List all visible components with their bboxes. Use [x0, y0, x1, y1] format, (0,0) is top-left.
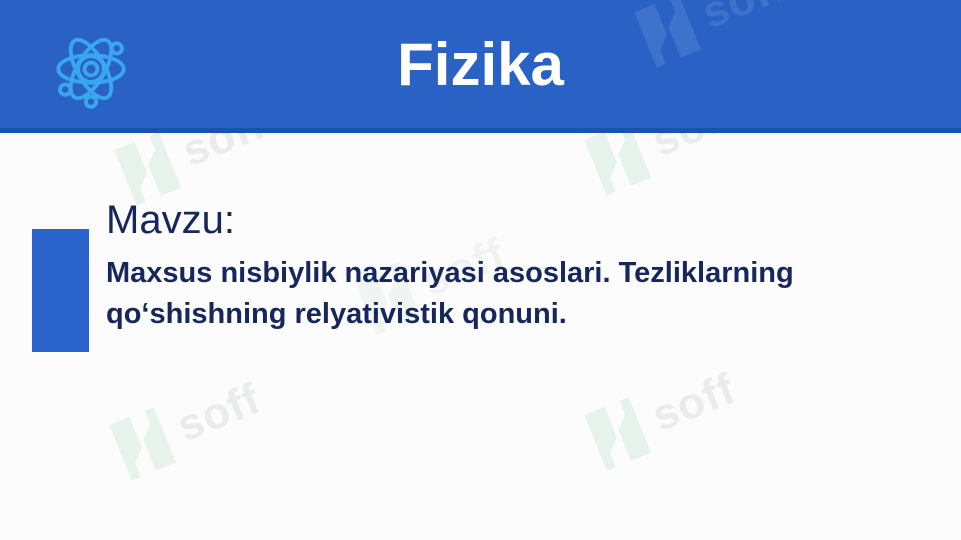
- presentation-slide: soff soff soff soff soff: [0, 0, 961, 540]
- slide-header: soff Fizika: [0, 0, 961, 133]
- page-title: Fizika: [0, 0, 961, 128]
- topic-label: Mavzu:: [106, 197, 906, 243]
- bullet-marker: [32, 229, 89, 352]
- topic-block: Mavzu: Maxsus nisbiylik nazariyasi asosl…: [106, 197, 906, 335]
- topic-title: Maxsus nisbiylik nazariyasi asoslari. Te…: [106, 253, 851, 335]
- slide-body: Mavzu: Maxsus nisbiylik nazariyasi asosl…: [0, 133, 961, 540]
